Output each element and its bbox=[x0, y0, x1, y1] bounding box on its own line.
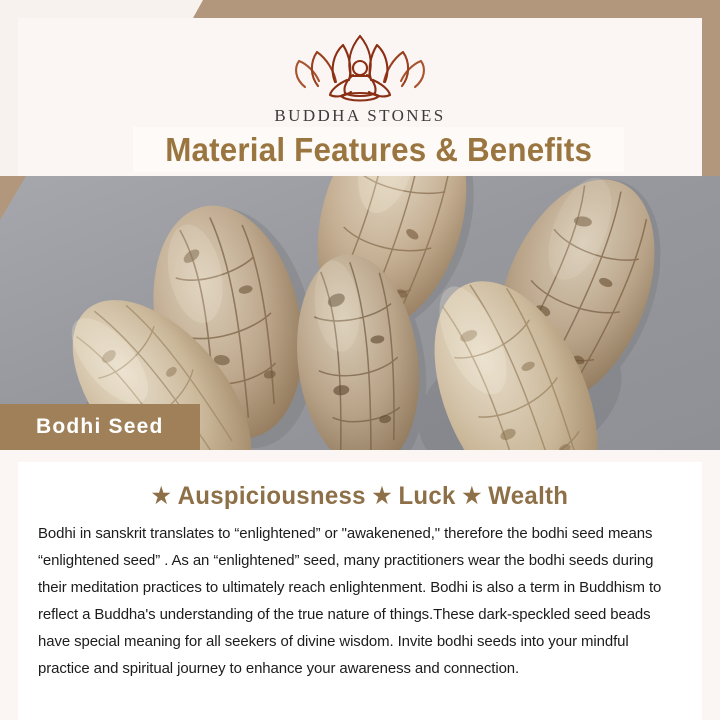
description-sheet: ★Auspiciousness★Luck★Wealth Bodhi in san… bbox=[18, 462, 702, 720]
benefits-line: ★Auspiciousness★Luck★Wealth bbox=[32, 482, 689, 511]
lotus-meditation-icon bbox=[285, 30, 435, 102]
product-info-card: BUDDHA STONES Material Features & Benefi… bbox=[0, 0, 720, 720]
page-title: Material Features & Benefits bbox=[165, 131, 592, 169]
brand-logo: BUDDHA STONES bbox=[274, 30, 445, 126]
product-photo: Bodhi Seed bbox=[0, 176, 720, 450]
benefit-luck: Luck bbox=[398, 482, 455, 510]
star-icon-3: ★ bbox=[462, 483, 481, 508]
header: BUDDHA STONES Material Features & Benefi… bbox=[0, 0, 720, 176]
description-text: Bodhi in sanskrit translates to “enlight… bbox=[38, 520, 680, 682]
benefit-wealth: Wealth bbox=[488, 482, 568, 510]
description-section: ★Auspiciousness★Luck★Wealth Bodhi in san… bbox=[0, 450, 720, 720]
title-band: Material Features & Benefits bbox=[133, 127, 624, 172]
star-icon-2: ★ bbox=[372, 483, 391, 508]
star-icon-1: ★ bbox=[152, 483, 171, 508]
seed-name-label: Bodhi Seed bbox=[36, 415, 164, 439]
benefit-auspiciousness: Auspiciousness bbox=[178, 482, 366, 510]
seed-name-badge: Bodhi Seed bbox=[0, 404, 200, 450]
brand-name: BUDDHA STONES bbox=[274, 106, 445, 126]
